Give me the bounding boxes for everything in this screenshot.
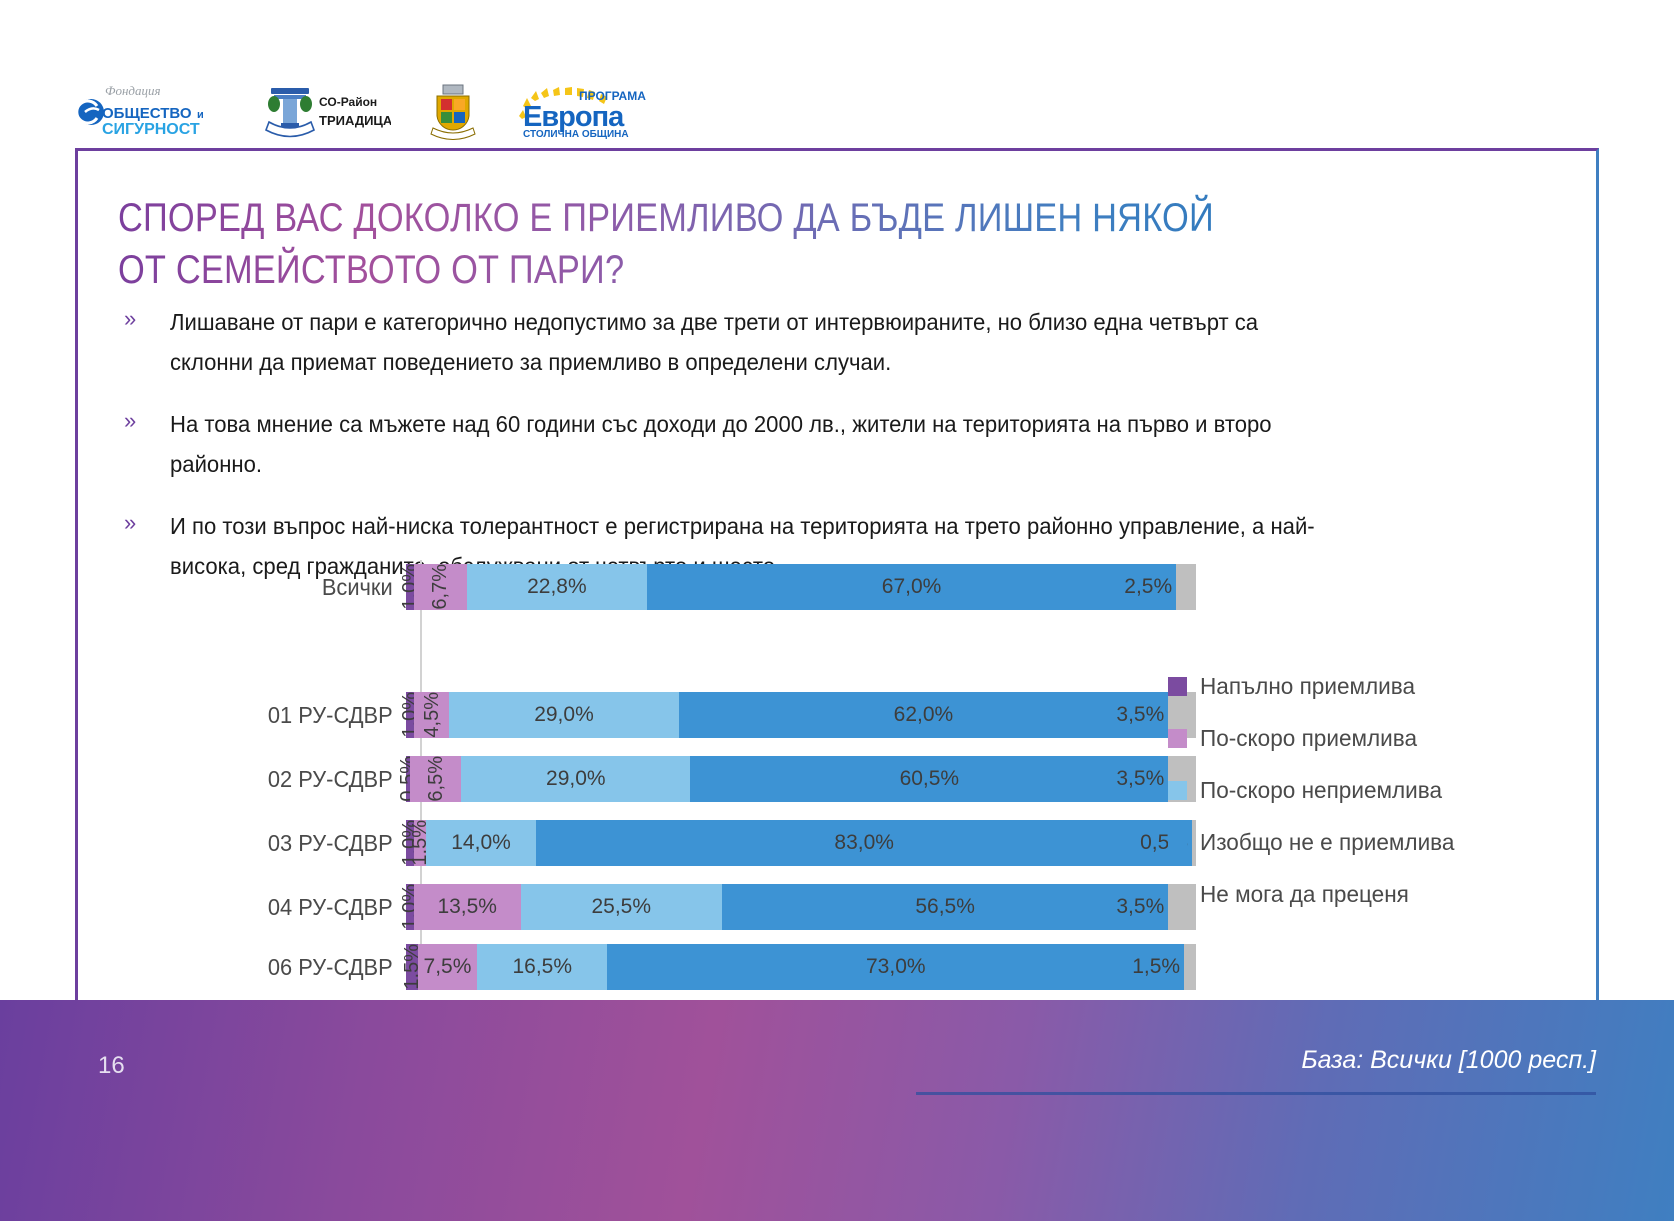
chevron-right-icon: » [118, 506, 170, 540]
chart-category-label: Всички [144, 574, 406, 601]
chart-stack: 1,5%7,5%16,5%73,0%1,5% [406, 944, 1196, 990]
chart-segment: 73,0% [607, 944, 1184, 990]
chart-stack: 1,0%13,5%25,5%56,5%3,5% [406, 884, 1196, 930]
chart-segment: 6,5% [410, 756, 461, 802]
svg-text:ОБЩЕСТВО: ОБЩЕСТВО [102, 105, 192, 122]
chart-row: 06 РУ-СДВР1,5%7,5%16,5%73,0%1,5% [130, 944, 1196, 990]
base-note: База: Всички [1000 респ.] [1301, 1046, 1596, 1075]
svg-text:Фондация: Фондация [105, 83, 161, 98]
page-footer: 16 База: Всички [1000 респ.] [0, 1000, 1674, 1221]
logo-sofia-coat-of-arms [427, 82, 479, 140]
chart-segment: 1,5% [1184, 944, 1196, 990]
chart-segment-label: 3,5% [1116, 703, 1164, 727]
chart-stack: 0,5%6,5%29,0%60,5%3,5% [406, 756, 1196, 802]
logo-foundation-society-and-security: Фондация ОБЩЕСТВО и СИГУРНОСТ [75, 82, 225, 140]
chart-stack: 1,0%4,5%29,0%62,0%3,5% [406, 692, 1196, 738]
chart-segment-label: 25,5% [591, 895, 651, 919]
chart-segment-label: 4,5% [422, 692, 442, 738]
logo-programa-evropa: Европа ПРОГРАМА СТОЛИЧНА ОБЩИНА [515, 84, 655, 140]
chart-category-label: 04 РУ-СДВР [144, 894, 406, 921]
chart-segment-label: 62,0% [894, 703, 954, 727]
chart-segment-label: 29,0% [546, 767, 606, 791]
legend-swatch-icon [1168, 729, 1187, 748]
legend-swatch-icon [1168, 781, 1187, 800]
chart-segment: 60,5% [690, 756, 1168, 802]
chart-segment: 56,5% [722, 884, 1168, 930]
chart-segment-label: 56,5% [915, 895, 975, 919]
chart-stack: 1,0%6,7%22,8%67,0%2,5% [406, 564, 1196, 610]
chart-stack: 1,0%1,5%14,0%83,0%0,5% [406, 820, 1196, 866]
svg-text:и: и [197, 109, 204, 121]
chart-segment-label: 83,0% [834, 831, 894, 855]
chart-segment-label: 14,0% [451, 831, 511, 855]
page-number: 16 [98, 1052, 125, 1080]
chart-row: 02 РУ-СДВР0,5%6,5%29,0%60,5%3,5% [130, 756, 1196, 802]
chart-segment: 13,5% [414, 884, 521, 930]
legend-item[interactable]: Изобщо не е приемлива [1168, 816, 1528, 868]
legend-label: По-скоро неприемлива [1200, 777, 1442, 804]
chart-segment-label: 1,5% [1132, 955, 1180, 979]
page-title: СПОРЕД ВАС ДОКОЛКО Е ПРИЕМЛИВО ДА БЪДЕ Л… [118, 192, 1253, 296]
chart-segment-label: 13,5% [437, 895, 497, 919]
chart-segment: 1,0% [406, 884, 414, 930]
chart-segment: 1,0% [406, 692, 414, 738]
legend-item[interactable]: По-скоро приемлива [1168, 712, 1528, 764]
chart-segment: 29,0% [449, 692, 678, 738]
svg-text:СО-Район: СО-Район [319, 95, 377, 109]
chart-segment: 6,7% [414, 564, 467, 610]
legend-swatch-icon [1168, 833, 1187, 852]
legend-label: Напълно приемлива [1200, 673, 1415, 700]
chevron-right-icon: » [118, 404, 170, 438]
chart-segment: 25,5% [521, 884, 722, 930]
chart-segment-label: 3,5% [1116, 895, 1164, 919]
list-item: » На това мнение са мъжете над 60 години… [118, 404, 1418, 484]
chart-segment: 22,8% [467, 564, 647, 610]
chart-row: Всички1,0%6,7%22,8%67,0%2,5% [130, 564, 1196, 610]
legend-swatch-icon [1168, 677, 1187, 696]
legend-label: По-скоро приемлива [1200, 725, 1417, 752]
chart-row: 01 РУ-СДВР1,0%4,5%29,0%62,0%3,5% [130, 692, 1196, 738]
legend-label: Изобщо не е приемлива [1200, 829, 1454, 856]
chart-legend: Напълно приемливаПо-скоро приемливаПо-ск… [1168, 660, 1528, 920]
chart-segment-label: 60,5% [900, 767, 960, 791]
chart-segment-label: 22,8% [527, 575, 587, 599]
svg-text:СТОЛИЧНА ОБЩИНА: СТОЛИЧНА ОБЩИНА [523, 129, 629, 140]
legend-swatch-icon [1168, 885, 1187, 904]
legend-item[interactable]: По-скоро неприемлива [1168, 764, 1528, 816]
chart-segment-label: 6,7% [430, 564, 450, 610]
footer-divider [916, 1092, 1596, 1095]
legend-label: Не мога да преценя [1200, 881, 1409, 908]
chart-segment-label: 16,5% [512, 955, 572, 979]
chart-segment: 1,5% [406, 944, 418, 990]
logo-strip: Фондация ОБЩЕСТВО и СИГУРНОСТ СО-Район Т… [75, 78, 655, 140]
chart-segment: 14,0% [426, 820, 537, 866]
chart-segment-label: 73,0% [866, 955, 926, 979]
chart-segment: 7,5% [418, 944, 477, 990]
logo-so-rayon-triaditsa: СО-Район ТРИАДИЦА [261, 82, 391, 140]
legend-item[interactable]: Напълно приемлива [1168, 660, 1528, 712]
chart-segment: 83,0% [536, 820, 1192, 866]
chart-row: 03 РУ-СДВР1,0%1,5%14,0%83,0%0,5% [130, 820, 1196, 866]
chart-category-label: 02 РУ-СДВР [144, 766, 406, 793]
chart-segment: 62,0% [679, 692, 1169, 738]
chart-segment: 29,0% [461, 756, 690, 802]
chart-segment-label: 29,0% [534, 703, 594, 727]
chart-segment: 67,0% [647, 564, 1176, 610]
chart-segment: 1,5% [414, 820, 426, 866]
chart-segment: 4,5% [414, 692, 450, 738]
chart-segment-label: 67,0% [882, 575, 942, 599]
svg-text:ТРИАДИЦА: ТРИАДИЦА [319, 113, 391, 128]
chevron-right-icon: » [118, 302, 170, 336]
bullet-text: Лишаване от пари е категорично недопусти… [170, 302, 1343, 382]
chart-category-label: 01 РУ-СДВР [144, 702, 406, 729]
chart-segment: 2,5% [1176, 564, 1196, 610]
svg-text:ПРОГРАМА: ПРОГРАМА [579, 89, 646, 103]
chart-segment: 16,5% [477, 944, 607, 990]
bullet-text: На това мнение са мъжете над 60 години с… [170, 404, 1343, 484]
chart-segment: 1,0% [406, 564, 414, 610]
chart-segment-label: 7,5% [424, 955, 472, 979]
legend-item[interactable]: Не мога да преценя [1168, 868, 1528, 920]
list-item: » Лишаване от пари е категорично недопус… [118, 302, 1418, 382]
chart-segment-label: 6,5% [426, 756, 446, 802]
chart-row: 04 РУ-СДВР1,0%13,5%25,5%56,5%3,5% [130, 884, 1196, 930]
chart-category-label: 06 РУ-СДВР [144, 954, 406, 981]
chart-category-label: 03 РУ-СДВР [144, 830, 406, 857]
chart-segment-label: 3,5% [1116, 767, 1164, 791]
chart-segment-label: 2,5% [1124, 575, 1172, 599]
svg-text:СИГУРНОСТ: СИГУРНОСТ [102, 121, 200, 138]
